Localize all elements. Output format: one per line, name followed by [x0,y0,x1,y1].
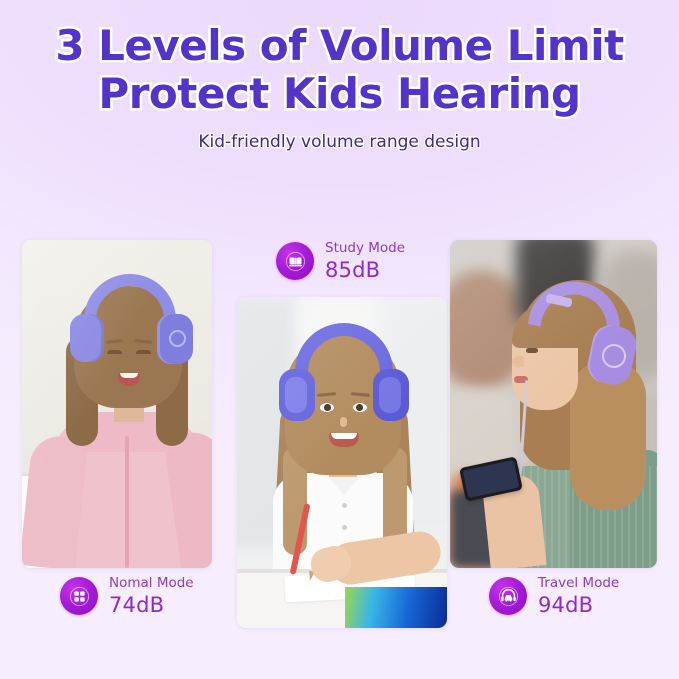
photo-highlight [22,240,212,568]
travel-mode-text: Travel Mode 94dB [538,577,619,616]
photo-highlight [237,297,447,628]
open-book-icon [285,251,306,272]
car-headphones-icon [498,586,519,607]
normal-mode-db: 74dB [109,595,194,616]
study-mode-label: Study Mode [325,242,405,256]
travel-mode-db: 94dB [538,595,619,616]
badge-study-mode: Study Mode 85dB [276,242,405,281]
normal-mode-text: Nomal Mode 74dB [109,577,194,616]
study-mode-icon-circle [276,242,314,280]
normal-mode-icon-circle [60,577,98,615]
normal-mode-label: Nomal Mode [109,577,194,591]
photo-study-mode [237,297,447,628]
page-subtitle: Kid-friendly volume range design [0,132,679,152]
photo-travel-mode [450,240,657,568]
photo-highlight [450,240,657,568]
headline-line-1: 3 Levels of Volume Limit [55,21,623,70]
travel-mode-label: Travel Mode [538,577,619,591]
promo-banner: 3 Levels of Volume Limit Protect Kids He… [0,0,679,679]
grid-squares-icon [69,586,90,607]
badge-normal-mode: Nomal Mode 74dB [60,577,194,616]
badge-travel-mode: Travel Mode 94dB [489,577,619,616]
study-mode-text: Study Mode 85dB [325,242,405,281]
header: 3 Levels of Volume Limit Protect Kids He… [0,22,679,152]
page-title: 3 Levels of Volume Limit Protect Kids He… [0,22,679,118]
photo-normal-mode [22,240,212,568]
study-mode-db: 85dB [325,260,405,281]
headline-line-2: Protect Kids Hearing [0,70,679,118]
travel-mode-icon-circle [489,577,527,615]
